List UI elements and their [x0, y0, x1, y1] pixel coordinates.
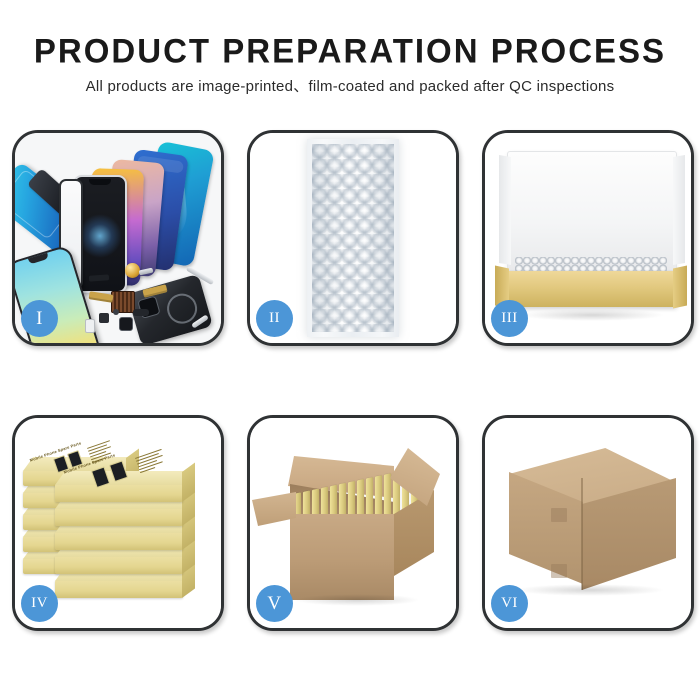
page-title: PRODUCT PREPARATION PROCESS [0, 0, 700, 69]
small-chip-part-icon [99, 313, 109, 323]
bubble-pattern-icon [312, 144, 394, 332]
carton-front-face-icon [290, 514, 394, 600]
process-step-panel-6[interactable]: VI [482, 415, 694, 631]
step-badge-1: I [21, 300, 58, 337]
phone-notch-icon [89, 179, 111, 185]
mailer-box-base-icon [505, 271, 677, 307]
step-badge-4: IV [21, 585, 58, 622]
white-connector-part-icon [85, 319, 95, 333]
process-step-panel-4[interactable]: Mobile Phone Spare Parts [12, 415, 224, 631]
page-subtitle: All products are image-printed、film-coat… [0, 66, 700, 95]
step-badge-2: II [256, 300, 293, 337]
process-step-panel-2[interactable]: II [247, 130, 459, 346]
yellow-box-front-3 [55, 532, 183, 550]
process-step-grid: I II III [0, 122, 700, 652]
process-step-panel-5[interactable]: V [247, 415, 459, 631]
large-phone-notch-icon [28, 253, 49, 265]
camera-module-part-icon [119, 317, 133, 331]
speaker-part-icon [133, 309, 149, 316]
step-badge-5: V [256, 585, 293, 622]
button-part-icon [113, 309, 119, 315]
carton-tape-lower-icon [551, 564, 567, 578]
gold-component-icon [125, 263, 140, 278]
process-step-panel-1[interactable]: I [12, 130, 224, 346]
step-badge-6: VI [491, 585, 528, 622]
carton-tape-upper-icon [551, 508, 567, 522]
carton-drop-shadow [294, 594, 420, 606]
product-preparation-process-infographic: PRODUCT PREPARATION PROCESS All products… [0, 0, 700, 700]
step-badge-3: III [491, 300, 528, 337]
process-step-panel-3[interactable]: III [482, 130, 694, 346]
yellow-box-front-5 [55, 580, 183, 598]
yellow-box-stack-icon: Mobile Phone Spare Parts [23, 440, 219, 612]
header: PRODUCT PREPARATION PROCESS All products… [0, 0, 700, 95]
sealed-carton-drop-shadow [515, 584, 665, 596]
yellow-box-front-1: Mobile Phone Spare Parts [55, 484, 183, 502]
yellow-box-front-2 [55, 508, 183, 526]
bubble-wrap-sheet-icon [307, 139, 399, 337]
screen-wallpaper-icon [78, 214, 122, 258]
box-drop-shadow [519, 309, 665, 321]
mailer-box-lid-icon [507, 151, 677, 271]
carton-vertical-seam [581, 478, 583, 590]
yellow-box-front-4 [55, 556, 183, 574]
